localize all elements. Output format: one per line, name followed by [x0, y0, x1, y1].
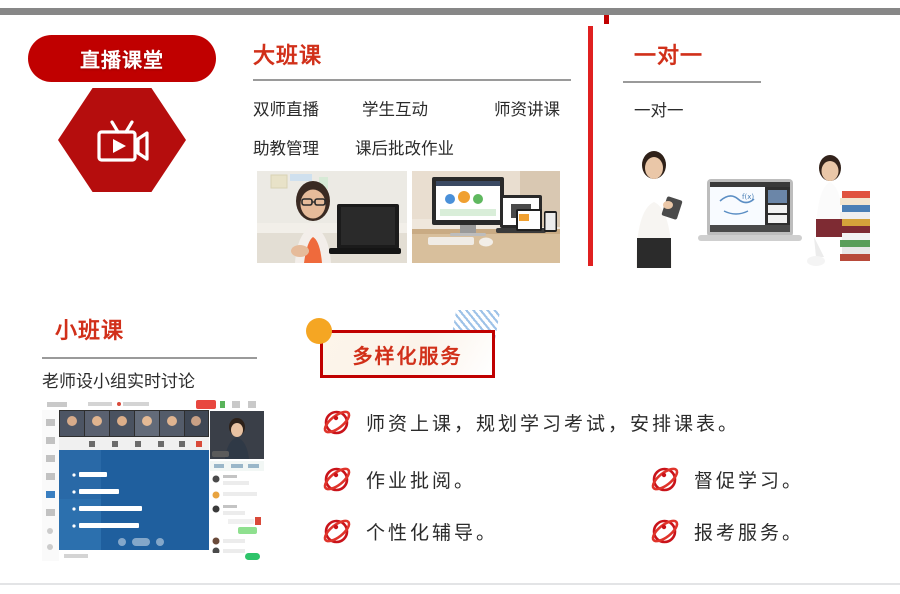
planet-ring-icon — [320, 514, 354, 548]
section-rule-big-class — [253, 79, 571, 81]
svg-text:f(x): f(x) — [742, 193, 754, 201]
feature-label-4: 助教管理 — [253, 135, 319, 159]
orange-dot-decoration — [306, 318, 332, 344]
top-red-tick — [604, 15, 609, 24]
small-class-subtitle: 老师设小组实时讨论 — [42, 367, 195, 392]
group-discussion-screenshot — [42, 399, 264, 561]
slide-canvas: 直播课堂 大班课 双师直播 学生互动 师资讲课 助教管理 课后批改作业 — [0, 0, 900, 594]
feature-label-3: 师资讲课 — [494, 96, 560, 120]
service-item-5-label: 报考服务。 — [694, 518, 804, 545]
planet-ring-icon — [320, 405, 354, 439]
service-item-1-label: 师资上课，规划学习考试，安排课表。 — [366, 409, 740, 436]
service-item-3-label: 个性化辅导。 — [366, 518, 498, 545]
teacher-with-laptop-photo — [257, 171, 407, 263]
service-item-2-label: 作业批阅。 — [366, 466, 476, 493]
multi-device-classroom-photo — [412, 171, 560, 263]
feature-label-2: 学生互动 — [362, 96, 428, 120]
feature-label-1: 双师直播 — [253, 96, 319, 120]
service-item-4-label: 督促学习。 — [694, 466, 804, 493]
feature-label-5: 课后批改作业 — [355, 135, 454, 159]
section-title-small-class: 小班课 — [55, 313, 124, 345]
service-item-1: 师资上课，规划学习考试，安排课表。 — [320, 405, 740, 439]
service-item-4: 督促学习。 — [648, 462, 804, 496]
planet-ring-icon — [648, 514, 682, 548]
section-title-big-class: 大班课 — [253, 38, 322, 70]
planet-ring-icon — [648, 462, 682, 496]
planet-ring-icon — [320, 462, 354, 496]
service-item-5: 报考服务。 — [648, 514, 804, 548]
teacher-laptop-student-photo: f(x) — [624, 143, 870, 268]
service-item-2: 作业批阅。 — [320, 462, 476, 496]
section-rule-small-class — [42, 357, 257, 359]
service-item-3: 个性化辅导。 — [320, 514, 498, 548]
bottom-divider-line — [0, 583, 900, 585]
services-heading-label: 多样化服务 — [353, 340, 463, 369]
live-classroom-hexagon — [58, 88, 186, 192]
vertical-red-divider — [588, 26, 593, 266]
live-video-camera-icon — [91, 112, 153, 168]
one-on-one-subtitle: 一对一 — [634, 97, 684, 121]
section-title-one-on-one: 一对一 — [634, 38, 703, 70]
services-heading-box: 多样化服务 — [320, 330, 495, 378]
top-gray-bar — [0, 8, 900, 15]
live-classroom-badge-label: 直播课堂 — [80, 44, 164, 73]
live-classroom-badge[interactable]: 直播课堂 — [28, 35, 216, 82]
section-rule-one-on-one — [623, 81, 761, 83]
